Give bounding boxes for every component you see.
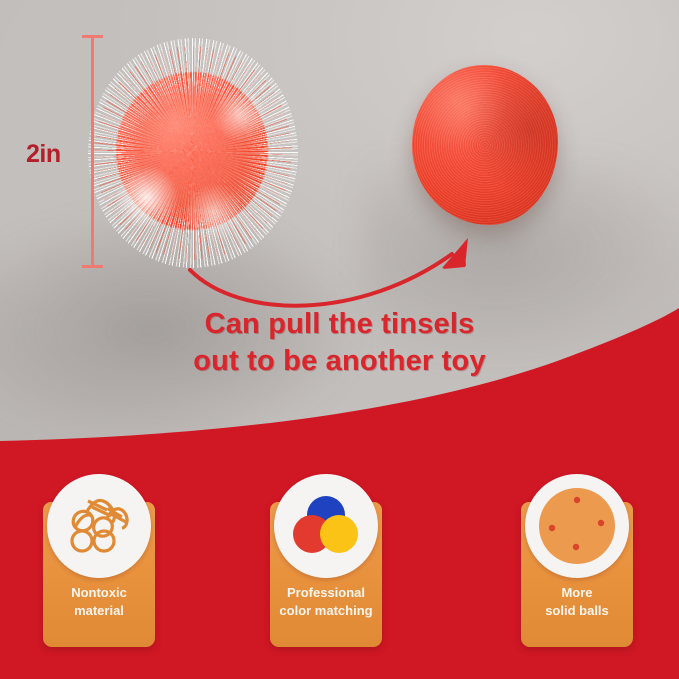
badge-label-line-2: solid balls — [521, 602, 633, 620]
dimension-cap-bottom — [82, 265, 103, 268]
product-photo-area: 2in Can pull the tinsels out to be anoth… — [0, 0, 679, 470]
tinsel-ball-sparkle — [102, 56, 288, 252]
headline-text: Can pull the tinsels out to be another t… — [0, 306, 679, 380]
product-infographic-poster: 2in Can pull the tinsels out to be anoth… — [0, 0, 679, 679]
wood-logs-icon — [66, 495, 132, 557]
badge-icon-circle — [47, 474, 151, 578]
badge-label: Nontoxic material — [43, 584, 155, 621]
headline-line-2: out to be another toy — [0, 343, 679, 380]
badge-label-line-2: material — [43, 602, 155, 620]
headline-line-1: Can pull the tinsels — [0, 306, 679, 343]
badge-label-line-1: Nontoxic — [43, 584, 155, 602]
badge-label-line-1: More — [521, 584, 633, 602]
badge-label: More solid balls — [521, 584, 633, 621]
feature-badges: Nontoxic material Professional color mat… — [0, 474, 679, 679]
dimension-label: 2in — [26, 140, 61, 169]
color-circles-icon — [291, 493, 361, 559]
plain-pom-ball — [412, 65, 558, 225]
solid-ball-icon — [536, 485, 618, 567]
badge-label: Professional color matching — [270, 584, 382, 621]
dimension-line — [91, 36, 94, 268]
badge-icon-circle — [274, 474, 378, 578]
badge-label-line-1: Professional — [270, 584, 382, 602]
badge-icon-circle — [525, 474, 629, 578]
badge-label-line-2: color matching — [270, 602, 382, 620]
